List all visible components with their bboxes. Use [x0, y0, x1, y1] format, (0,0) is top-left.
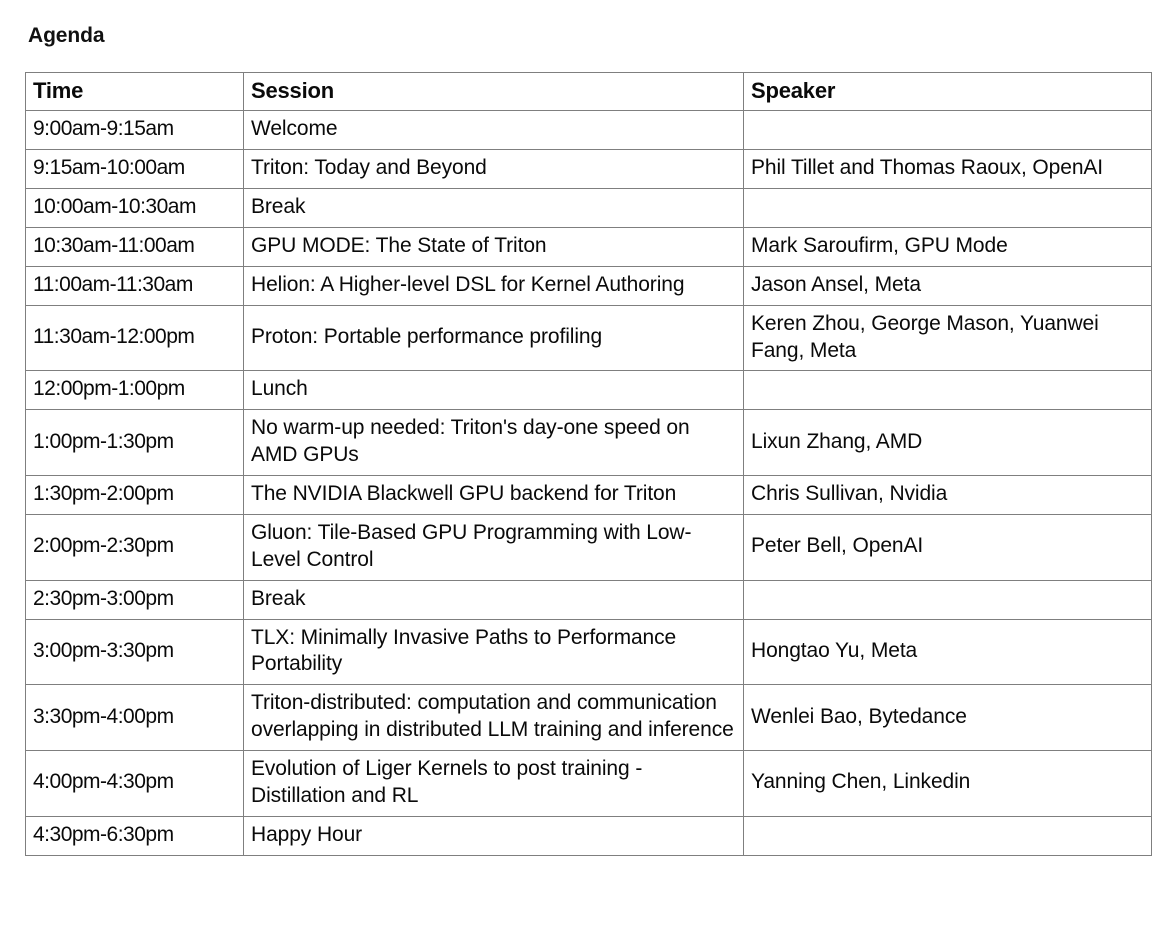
cell-session: GPU MODE: The State of Triton — [244, 227, 744, 266]
cell-speaker: Chris Sullivan, Nvidia — [744, 476, 1152, 515]
table-row: 1:30pm-2:00pmThe NVIDIA Blackwell GPU ba… — [26, 476, 1152, 515]
cell-speaker: Keren Zhou, George Mason, Yuanwei Fang, … — [744, 305, 1152, 371]
cell-speaker: Yanning Chen, Linkedin — [744, 751, 1152, 817]
table-row: 2:30pm-3:00pmBreak — [26, 580, 1152, 619]
table-row: 3:30pm-4:00pmTriton-distributed: computa… — [26, 685, 1152, 751]
cell-speaker-empty — [744, 371, 1152, 410]
column-header-time: Time — [26, 73, 244, 111]
cell-session: Break — [244, 580, 744, 619]
table-header-row: Time Session Speaker — [26, 73, 1152, 111]
cell-speaker-empty — [744, 111, 1152, 150]
table-row: 11:30am-12:00pmProton: Portable performa… — [26, 305, 1152, 371]
page-title: Agenda — [28, 24, 1151, 47]
cell-session: Proton: Portable performance profiling — [244, 305, 744, 371]
cell-time: 2:30pm-3:00pm — [26, 580, 244, 619]
cell-speaker-empty — [744, 189, 1152, 228]
cell-time: 10:30am-11:00am — [26, 227, 244, 266]
cell-session: TLX: Minimally Invasive Paths to Perform… — [244, 619, 744, 685]
cell-speaker: Wenlei Bao, Bytedance — [744, 685, 1152, 751]
agenda-page: Agenda Time Session Speaker 9:00am-9:15a… — [0, 0, 1172, 952]
table-row: 2:00pm-2:30pmGluon: Tile-Based GPU Progr… — [26, 514, 1152, 580]
cell-session: Break — [244, 189, 744, 228]
cell-session: Triton-distributed: computation and comm… — [244, 685, 744, 751]
cell-speaker: Peter Bell, OpenAI — [744, 514, 1152, 580]
cell-time: 1:30pm-2:00pm — [26, 476, 244, 515]
cell-speaker: Jason Ansel, Meta — [744, 266, 1152, 305]
cell-speaker-empty — [744, 580, 1152, 619]
cell-speaker: Phil Tillet and Thomas Raoux, OpenAI — [744, 150, 1152, 189]
cell-session: Happy Hour — [244, 816, 744, 855]
table-header: Time Session Speaker — [26, 73, 1152, 111]
cell-session: Gluon: Tile-Based GPU Programming with L… — [244, 514, 744, 580]
cell-speaker: Lixun Zhang, AMD — [744, 410, 1152, 476]
cell-session: Welcome — [244, 111, 744, 150]
cell-speaker-empty — [744, 816, 1152, 855]
column-header-speaker: Speaker — [744, 73, 1152, 111]
cell-time: 12:00pm-1:00pm — [26, 371, 244, 410]
cell-session: The NVIDIA Blackwell GPU backend for Tri… — [244, 476, 744, 515]
cell-time: 4:30pm-6:30pm — [26, 816, 244, 855]
cell-time: 1:00pm-1:30pm — [26, 410, 244, 476]
cell-session: No warm-up needed: Triton's day-one spee… — [244, 410, 744, 476]
cell-time: 9:00am-9:15am — [26, 111, 244, 150]
cell-speaker: Hongtao Yu, Meta — [744, 619, 1152, 685]
table-body: 9:00am-9:15amWelcome9:15am-10:00amTriton… — [26, 111, 1152, 855]
cell-session: Evolution of Liger Kernels to post train… — [244, 751, 744, 817]
cell-session: Lunch — [244, 371, 744, 410]
cell-time: 3:30pm-4:00pm — [26, 685, 244, 751]
table-row: 10:00am-10:30amBreak — [26, 189, 1152, 228]
cell-speaker: Mark Saroufirm, GPU Mode — [744, 227, 1152, 266]
cell-time: 11:30am-12:00pm — [26, 305, 244, 371]
cell-time: 9:15am-10:00am — [26, 150, 244, 189]
cell-time: 4:00pm-4:30pm — [26, 751, 244, 817]
table-row: 4:30pm-6:30pmHappy Hour — [26, 816, 1152, 855]
cell-session: Helion: A Higher-level DSL for Kernel Au… — [244, 266, 744, 305]
table-row: 3:00pm-3:30pmTLX: Minimally Invasive Pat… — [26, 619, 1152, 685]
table-row: 4:00pm-4:30pmEvolution of Liger Kernels … — [26, 751, 1152, 817]
table-row: 10:30am-11:00amGPU MODE: The State of Tr… — [26, 227, 1152, 266]
cell-time: 3:00pm-3:30pm — [26, 619, 244, 685]
cell-time: 11:00am-11:30am — [26, 266, 244, 305]
cell-session: Triton: Today and Beyond — [244, 150, 744, 189]
table-row: 12:00pm-1:00pmLunch — [26, 371, 1152, 410]
table-row: 9:15am-10:00amTriton: Today and BeyondPh… — [26, 150, 1152, 189]
table-row: 1:00pm-1:30pmNo warm-up needed: Triton's… — [26, 410, 1152, 476]
table-row: 9:00am-9:15amWelcome — [26, 111, 1152, 150]
table-row: 11:00am-11:30amHelion: A Higher-level DS… — [26, 266, 1152, 305]
agenda-table: Time Session Speaker 9:00am-9:15amWelcom… — [25, 72, 1152, 856]
cell-time: 2:00pm-2:30pm — [26, 514, 244, 580]
column-header-session: Session — [244, 73, 744, 111]
cell-time: 10:00am-10:30am — [26, 189, 244, 228]
